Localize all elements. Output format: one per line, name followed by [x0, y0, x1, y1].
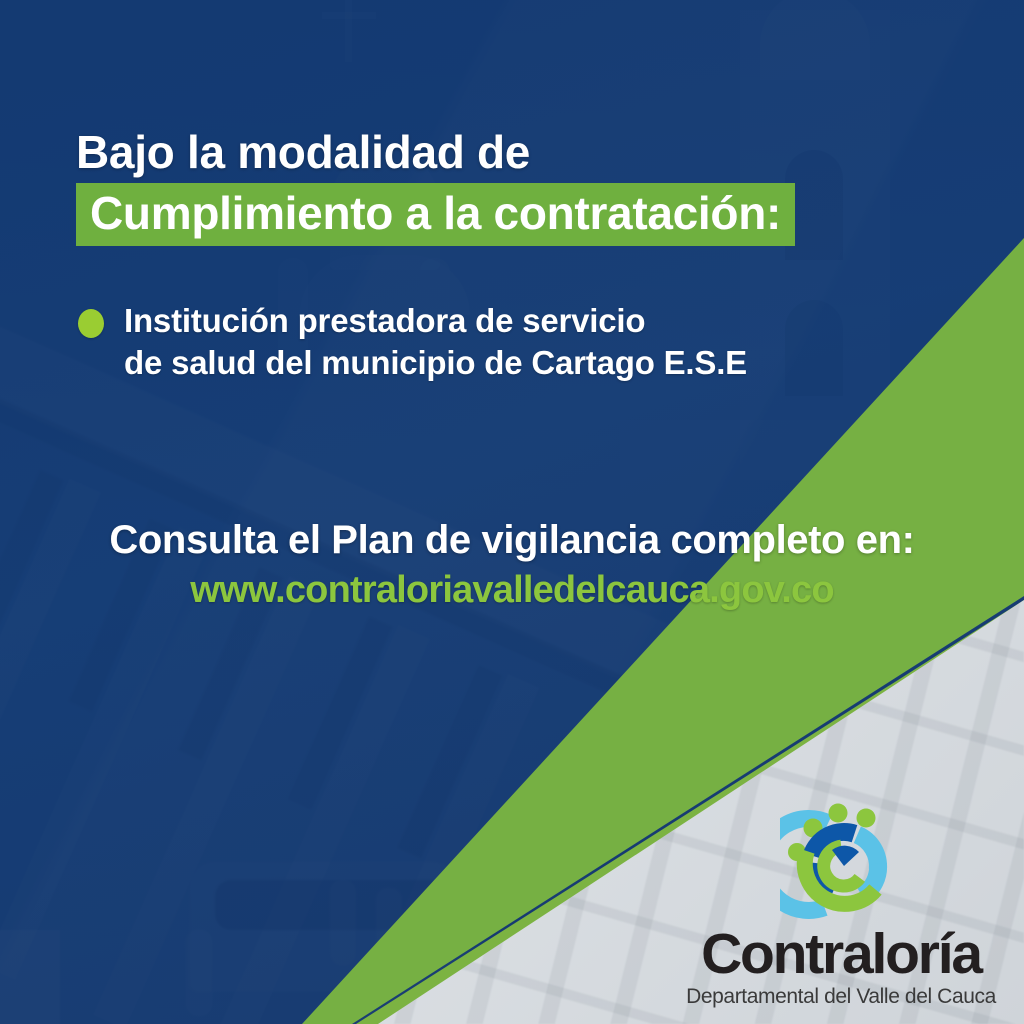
logo-subtitle: Departamental del Valle del Cauca [676, 986, 1006, 1007]
contraloria-circular-mark-icon [780, 802, 908, 930]
bullet-text-wrapper: Institución prestadora de servicio de sa… [124, 300, 747, 384]
bullet-dot-icon [78, 309, 104, 338]
headline-highlight-wrapper: Cumplimiento a la contratación: [76, 183, 956, 246]
website-url[interactable]: www.contraloriavalledelcauca.gov.co [0, 569, 1024, 612]
logo-wordmark: Contraloría [676, 926, 1006, 983]
list-item: Institución prestadora de servicio de sa… [78, 300, 938, 384]
contraloria-logo: Contraloría Departamental del Valle del … [676, 802, 1006, 1012]
bullet-line-1: Institución prestadora de servicio [124, 300, 747, 342]
call-to-action-label: Consulta el Plan de vigilancia completo … [0, 518, 1024, 563]
call-to-action-block: Consulta el Plan de vigilancia completo … [0, 518, 1024, 612]
bullet-line-2: de salud del municipio de Cartago E.S.E [124, 342, 747, 384]
headline-line-1: Bajo la modalidad de [76, 128, 956, 177]
headline-block: Bajo la modalidad de Cumplimiento a la c… [76, 128, 956, 246]
poster-canvas: Bajo la modalidad de Cumplimiento a la c… [0, 0, 1024, 1024]
headline-line-2-highlighted: Cumplimiento a la contratación: [76, 183, 795, 246]
